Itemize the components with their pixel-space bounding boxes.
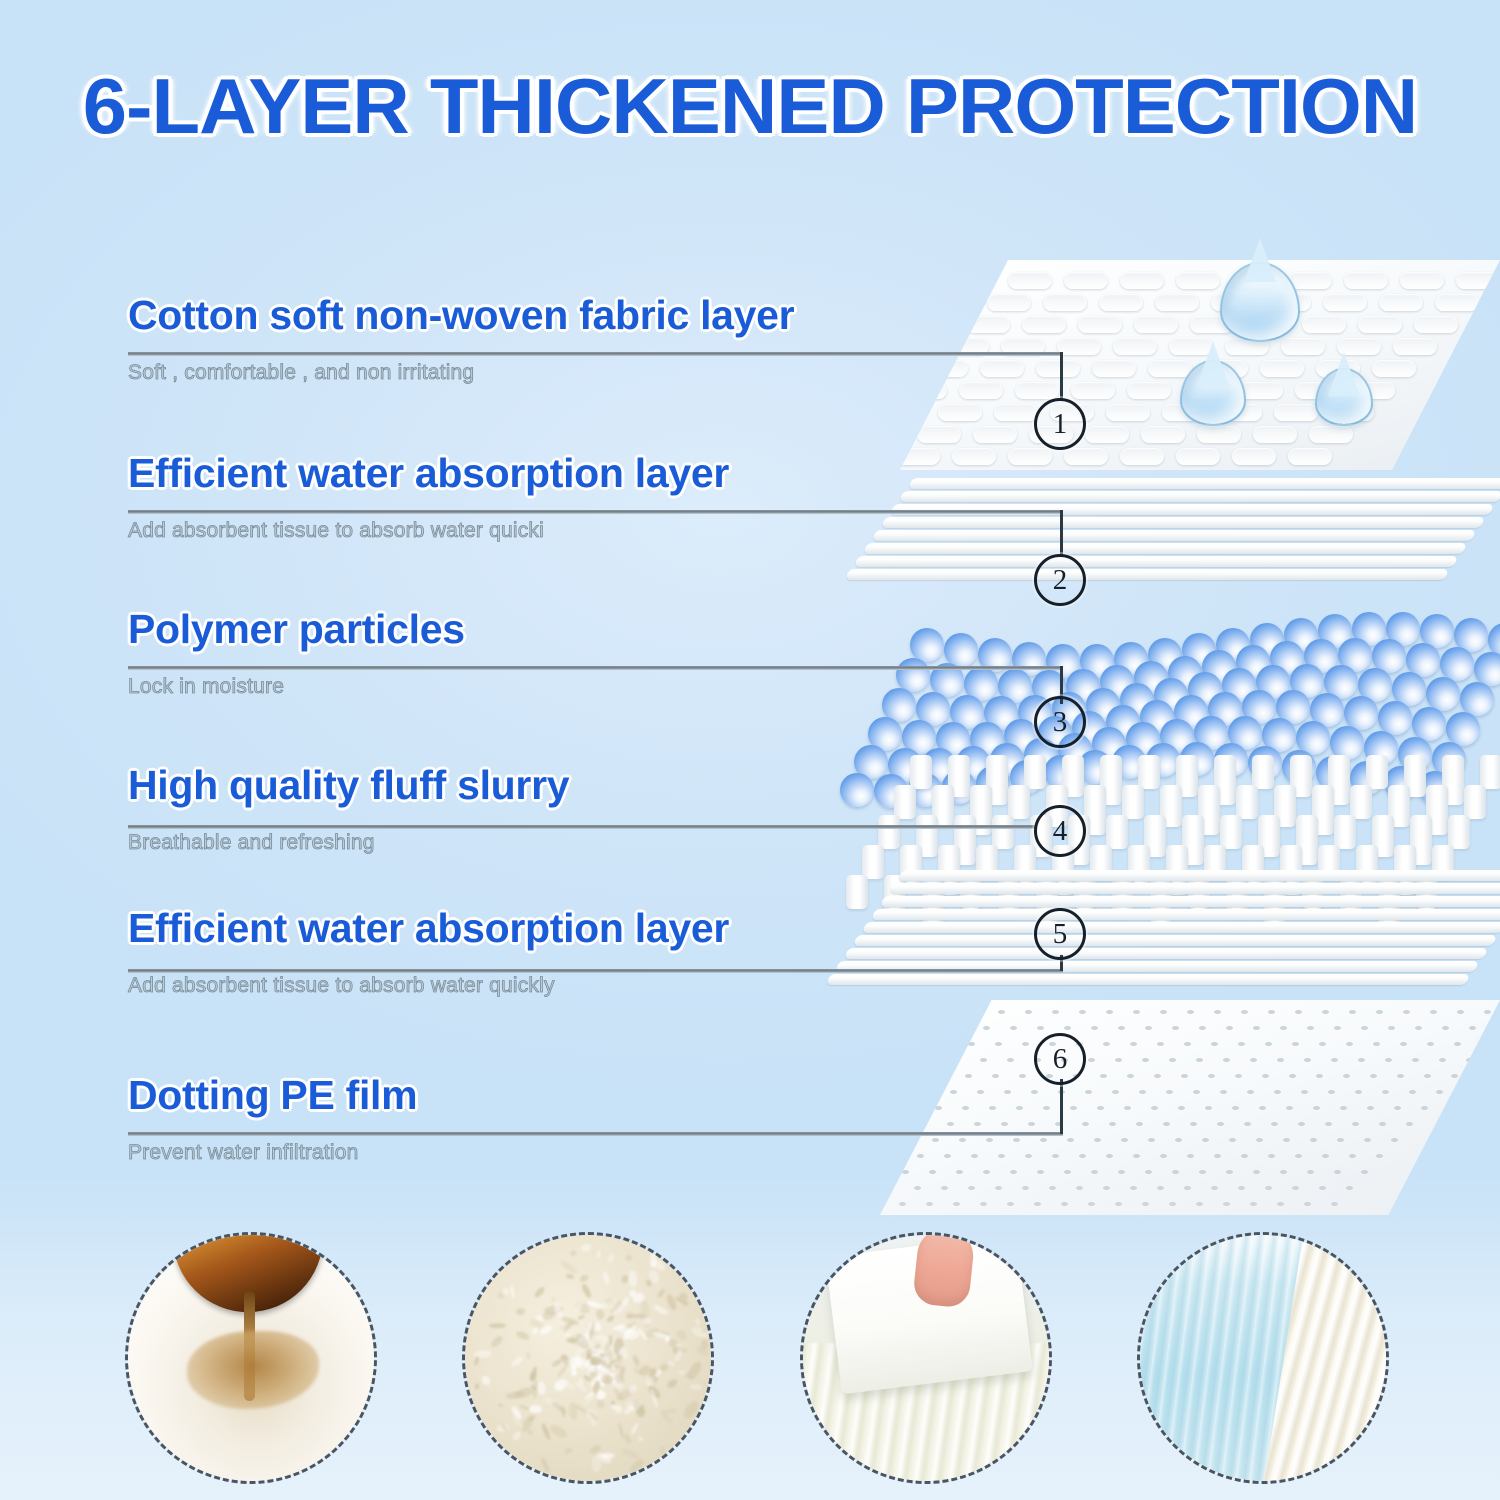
pe-film-dot [1376,1010,1383,1014]
pe-film-dot [998,1154,1005,1158]
pe-film-dot [1049,1186,1056,1190]
fluff-fiber-column [1480,755,1500,789]
dimple-emboss [1015,382,1059,399]
pe-film-dot [1184,1186,1191,1190]
fluff-fiber-column [1236,785,1258,819]
dimple-emboss [1372,360,1416,377]
tissue-rib [880,896,1500,907]
pe-film-dot [1070,1106,1077,1110]
pe-film-dot [1265,1186,1272,1190]
pe-film-dot [1211,1042,1218,1046]
pe-film-dot [1457,1010,1464,1014]
pe-film-dot [1124,1106,1131,1110]
fiber-speckle [519,1404,531,1410]
pe-film-dot [1328,1090,1335,1094]
pe-film-dot [899,1202,906,1206]
pe-film-dot [1334,1026,1341,1030]
pe-film-dot [1316,1074,1323,1078]
photo-fluff-pulp-closeup[interactable] [462,1232,714,1484]
pe-film-dot [968,1042,975,1046]
pe-film-dot [1088,1058,1095,1062]
pe-film-dot [1160,1010,1167,1014]
pe-film-dot [1298,1122,1305,1126]
pe-film-dot [929,1170,936,1174]
pe-film-dot [1013,1138,1020,1142]
fiber-speckle [620,1447,640,1461]
polymer-bead [1488,623,1500,657]
dimple-emboss [896,448,940,465]
pe-film-dot [1355,1090,1362,1094]
fiber-speckle [666,1378,679,1390]
pe-film-dot [1481,1042,1488,1046]
pe-film-dot [1295,1010,1302,1014]
pe-film-dot [944,1154,951,1158]
pe-film-dot [1088,1202,1095,1206]
dimple-emboss [1134,316,1178,333]
pe-film-dot [1076,1186,1083,1190]
fiber-speckle [605,1314,615,1324]
pe-film-dot [1004,1090,1011,1094]
pe-film-dot [1169,1202,1176,1206]
fluff-fiber-column [1220,815,1242,849]
pe-film-dot [1148,1138,1155,1142]
fiber-speckle [512,1430,522,1441]
pe-film-dot [1304,1202,1311,1206]
pe-film-dot [1394,1106,1401,1110]
dimple-emboss [1057,338,1101,355]
dimple-emboss [1155,294,1199,311]
pe-film-dot [1193,1090,1200,1094]
dimple-emboss [938,404,982,421]
dimple-emboss [1113,338,1157,355]
pe-film-dot [1169,1058,1176,1062]
pe-film-dot [1187,1010,1194,1014]
pe-film-dot [983,1026,990,1030]
pe-film-dot [1385,1058,1392,1062]
tissue-rib [889,883,1500,894]
dimple-emboss [1008,448,1052,465]
pe-film-dot [941,1186,948,1190]
fiber-speckle [690,1325,710,1340]
layer-2-leader-rule [128,510,1063,514]
dimple-emboss [1106,404,1150,421]
pe-film-dot [1127,1074,1134,1078]
pe-film-dot [953,1058,960,1062]
pe-film-dot [1052,1010,1059,1014]
pe-film-dot [1415,1026,1422,1030]
pe-film-dot [1157,1042,1164,1046]
pe-film-dot [1133,1010,1140,1014]
fiber-speckle [656,1287,665,1298]
pe-film-dot [1010,1026,1017,1030]
pe-film-dot [1367,1106,1374,1110]
layer-3-heading: Polymer particles [128,606,465,653]
pe-film-dot [1001,1122,1008,1126]
pe-film-dot [1043,1106,1050,1110]
pe-film-dot [1172,1026,1179,1030]
layer-2-number-badge: 2 [1034,554,1086,606]
pe-film-dot [1421,1106,1428,1110]
layer-4-number-badge: 4 [1034,805,1086,857]
fluff-fiber-column [1350,785,1372,819]
dimple-emboss [1309,426,1353,443]
dimple-emboss [1176,448,1220,465]
fiber-speckle [694,1317,701,1327]
dimple-emboss [903,382,947,399]
dimple-emboss [1078,316,1122,333]
polymer-bead [840,773,874,807]
layer-5-number-badge: 5 [1034,908,1086,960]
pe-film-dot [1145,1026,1152,1030]
layer-1-heading: Cotton soft non-woven fabric layer [128,292,794,339]
pe-film-dot [1208,1074,1215,1078]
layer-5-leader-rule [128,969,1063,973]
pe-film-dot [1172,1170,1179,1174]
layered-product-illustration [860,230,1500,1220]
dimple-emboss [1120,272,1164,289]
pe-film-dot [1403,1010,1410,1014]
pe-film-dot [1007,1202,1014,1206]
pe-film-dot [1142,1058,1149,1062]
layer-6-leader-rule [128,1132,1063,1136]
dimple-emboss [1414,316,1458,333]
layer-4-subtext: Breathable and refreshing [128,831,569,855]
dimple-emboss [917,426,961,443]
pe-film-dot [1277,1058,1284,1062]
pe-film-dot [1322,1154,1329,1158]
pe-film-dot [1133,1154,1140,1158]
pe-film-dot [1319,1186,1326,1190]
pe-film-dot [1100,1074,1107,1078]
pe-film-dot [920,1122,927,1126]
fiber-speckle [618,1422,625,1438]
layer-block-5: Efficient water absorption layer Add abs… [128,905,729,998]
dimple-emboss [1288,448,1332,465]
pe-film-dot [1019,1074,1026,1078]
fiber-speckle [623,1330,640,1340]
pe-film-dot [1091,1026,1098,1030]
pe-film-dot [1379,1122,1386,1126]
pe-film-dot [1364,1138,1371,1142]
pe-film-dot [860,1186,867,1190]
dimple-emboss [1141,426,1185,443]
layer-3-number-badge: 3 [1034,696,1086,748]
dimple-emboss [840,448,884,465]
polymer-bead [1446,712,1480,746]
pe-film-dot [833,1186,840,1190]
pe-film-dot [1199,1170,1206,1174]
pe-film-dot [908,1106,915,1110]
fiber-speckle [675,1328,689,1342]
pe-film-dot [1349,1010,1356,1014]
pe-film-dot [1118,1026,1125,1030]
dimple-emboss [1281,338,1325,355]
dimple-emboss [987,294,1031,311]
pe-film-dot [1109,1122,1116,1126]
fiber-speckle [625,1254,633,1262]
photo-liquid-absorption-test[interactable] [125,1232,377,1484]
pe-film-dot [1304,1058,1311,1062]
dimple-emboss [924,360,968,377]
pe-film-dot [1136,1122,1143,1126]
pe-film-dot [1040,1138,1047,1142]
pe-film-dot [1082,1122,1089,1126]
polymer-bead [1440,647,1474,681]
fluff-fiber-column [910,755,932,789]
dimple-emboss [1435,294,1479,311]
dimple-emboss [1036,360,1080,377]
pe-film-dot [950,1090,957,1094]
pe-film-dot [989,1106,996,1110]
pe-film-dot [1253,1026,1260,1030]
polymer-bead [1474,652,1500,686]
pe-film-dot [1037,1026,1044,1030]
pe-film-dot [1262,1074,1269,1078]
fiber-speckle [564,1446,573,1454]
fiber-speckle [682,1399,701,1420]
fiber-speckle [614,1404,623,1413]
fiber-speckle [548,1422,569,1440]
layer-4-heading: High quality fluff slurry [128,762,569,809]
pe-film-dot [1319,1042,1326,1046]
layer-5-heading: Efficient water absorption layer [128,905,729,952]
pe-film-dot [1025,1154,1032,1158]
dimple-emboss [1344,272,1388,289]
tissue-rib [854,556,1458,567]
fiber-speckle [596,1250,602,1260]
pe-film-dot [1322,1010,1329,1014]
pe-film-dot [947,1122,954,1126]
dimple-emboss [1393,338,1437,355]
pe-film-dot [1010,1170,1017,1174]
pe-film-dot [1025,1010,1032,1014]
layer-2-subtext: Add absorbent tissue to absorb water qui… [128,519,729,543]
pe-film-dot [1103,1042,1110,1046]
pe-film-dot [1196,1202,1203,1206]
fiber-speckle [690,1383,702,1390]
pe-film-dot [1301,1090,1308,1094]
pe-film-dot [1427,1042,1434,1046]
pe-film-dot [1310,1138,1317,1142]
pe-film-dot [1214,1154,1221,1158]
pe-film-dot [1130,1186,1137,1190]
layer-1-leader-rule [128,352,1063,356]
pe-film-dot [1337,1138,1344,1142]
photo-finger-lifting-pad[interactable] [800,1232,1052,1484]
pe-film-dot [1061,1202,1068,1206]
fiber-speckle [516,1307,526,1315]
pe-film-dot [980,1058,987,1062]
pe-film-dot [1334,1170,1341,1174]
pe-film-dot [914,1186,921,1190]
layer-1-number-badge: 1 [1034,398,1086,450]
dimple-emboss [1358,316,1402,333]
pe-film-dot [1286,1106,1293,1110]
pe-film-dot [1358,1058,1365,1062]
fiber-speckle [602,1270,610,1284]
photo-strip [0,1232,1500,1482]
pe-film-dot [1280,1026,1287,1030]
fluff-fiber-column [878,815,900,849]
pe-film-dot [917,1154,924,1158]
pe-film-dot [1496,1026,1500,1030]
fiber-speckle [601,1453,615,1460]
pe-film-dot [1295,1154,1302,1158]
pe-film-dot [1031,1090,1038,1094]
fluff-fiber-column [1464,785,1486,819]
pe-film-dot [1064,1026,1071,1030]
fiber-speckle [637,1436,644,1443]
dimple-emboss [1092,360,1136,377]
pe-film-dot [983,1170,990,1174]
pe-film-dot [1007,1058,1014,1062]
dimple-emboss [861,426,905,443]
dimple-emboss [952,448,996,465]
pe-film-dot [1205,1106,1212,1110]
fluff-fiber-column [1366,755,1388,789]
layer-5-ribbed-tissue [860,870,1500,1010]
layer-block-6: Dotting PE film Prevent water infiltrati… [128,1072,417,1165]
pe-film-dot [1241,1010,1248,1014]
fluff-fiber-column [1334,815,1356,849]
fluff-fiber-column [894,785,916,819]
pe-film-dot [1376,1154,1383,1158]
fiber-speckle [631,1354,640,1367]
pe-film-dot [1283,1138,1290,1142]
dimple-emboss [1043,294,1087,311]
pe-film-dot [1397,1074,1404,1078]
pe-film-dot [1139,1090,1146,1094]
fiber-speckle [627,1270,638,1288]
dimple-emboss [973,426,1017,443]
pe-film-dot [1412,1058,1419,1062]
infographic-canvas: 6-LAYER THICKENED PROTECTION Cotton soft… [0,0,1500,1500]
fiber-speckle [581,1283,593,1299]
layer-5-subtext: Add absorbent tissue to absorb water qui… [128,974,729,998]
pe-film-dot [1097,1106,1104,1110]
pe-film-dot [992,1074,999,1078]
dimple-emboss [1274,404,1318,421]
tissue-rib [862,922,1500,933]
pe-film-dot [878,1138,885,1142]
dimple-emboss [1022,316,1066,333]
pe-film-dot [1151,1106,1158,1110]
pe-film-dot [1343,1074,1350,1078]
fiber-speckle [577,1314,586,1321]
pe-film-dot [1196,1058,1203,1062]
pe-film-dot [1106,1010,1113,1014]
fiber-speckle [595,1308,605,1319]
pe-film-dot [1451,1074,1458,1078]
pe-film-dot [1112,1090,1119,1094]
pe-film-dot [1361,1170,1368,1174]
tissue-rib [899,491,1500,502]
pe-film-dot [1289,1074,1296,1078]
pe-film-dot [1349,1154,1356,1158]
pe-film-dot [1079,1010,1086,1014]
pe-film-dot [1244,1122,1251,1126]
fiber-speckle [629,1422,639,1435]
dimple-emboss [1379,294,1423,311]
pe-film-dot [1250,1202,1257,1206]
polymer-bead [1378,701,1412,735]
pe-film-dot [1265,1042,1272,1046]
pe-film-dot [1469,1026,1476,1030]
fiber-speckle [533,1286,546,1300]
page-title: 6-LAYER THICKENED PROTECTION [0,60,1500,152]
dimple-emboss [994,404,1038,421]
pe-film-dot [1157,1186,1164,1190]
layer-block-3: Polymer particles Lock in moisture [128,606,465,699]
layer-6-number-badge: 6 [1034,1033,1086,1085]
pe-film-dot [1361,1026,1368,1030]
dimple-emboss [1260,360,1304,377]
layer-2-ribbed-tissue [870,478,1500,598]
pe-film-dot [1079,1154,1086,1158]
pe-film-dot [1163,1122,1170,1126]
pe-film-dot [1064,1170,1071,1174]
fiber-speckle [566,1273,575,1280]
fiber-speckle [660,1364,668,1371]
dimple-emboss [1064,448,1108,465]
pe-film-dot [1223,1202,1230,1206]
pe-film-dot [1115,1202,1122,1206]
pe-film-dot [1346,1186,1353,1190]
pe-film-dot [1373,1042,1380,1046]
pe-film-dot [1268,1010,1275,1014]
pe-film-dot [1223,1058,1230,1062]
pe-film-dot [1325,1122,1332,1126]
pe-film-dot [1190,1122,1197,1126]
pe-film-dot [887,1186,894,1190]
pe-film-dot [1226,1170,1233,1174]
pe-film-dot [1160,1154,1167,1158]
pe-film-dot [932,1138,939,1142]
tissue-rib [872,530,1476,541]
fiber-speckle [660,1446,667,1456]
dimple-emboss [1302,316,1346,333]
pe-film-dot [1022,1042,1029,1046]
pe-film-dot [872,1202,879,1206]
fiber-speckle [473,1356,479,1366]
pe-film-dot [962,1106,969,1110]
dimple-emboss [1400,272,1444,289]
pe-film-dot [1442,1026,1449,1030]
pe-film-dot [818,1202,825,1206]
dimple-emboss [1323,294,1367,311]
photo-folded-pad-blue-backing[interactable] [1137,1232,1389,1484]
fiber-speckle [682,1300,690,1308]
pe-film-dot [1181,1074,1188,1078]
polymer-bead [896,658,930,692]
pe-film-dot [905,1138,912,1142]
dimple-emboss [1253,426,1297,443]
pe-film-dot [848,1170,855,1174]
dimple-emboss [882,404,926,421]
pe-film-dot [1235,1074,1242,1078]
pe-film-dot [965,1074,972,1078]
fiber-speckle [490,1334,505,1349]
pe-film-dot [1271,1122,1278,1126]
pe-film-dot [1430,1010,1437,1014]
tissue-rib [853,935,1497,946]
fluff-fiber-column [1024,755,1046,789]
pe-film-dot [1091,1170,1098,1174]
pe-film-dot [971,1154,978,1158]
pe-film-dot [1094,1138,1101,1142]
layer-6-subtext: Prevent water infiltration [128,1141,417,1165]
layer-6-leader-vertical [1060,1079,1063,1134]
